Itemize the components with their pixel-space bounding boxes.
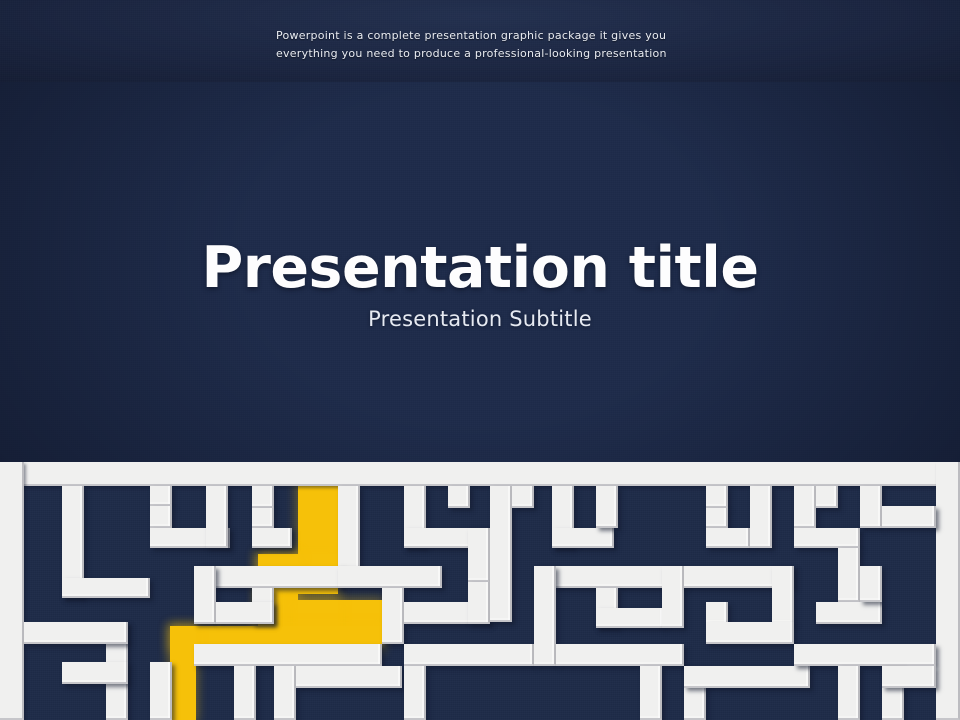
maze-wall-segment [0, 462, 24, 720]
maze-illustration [0, 462, 960, 720]
maze-wall-segment [838, 548, 860, 602]
maze-wall-segment [706, 486, 728, 508]
maze-wall-segment [194, 566, 344, 588]
maze-wall-segment [706, 528, 750, 548]
maze-wall-segment [750, 486, 772, 548]
maze-wall-segment [150, 486, 172, 506]
maze-wall-segment [382, 588, 404, 644]
maze-wall-segment [338, 486, 360, 572]
page-subtitle[interactable]: Presentation Subtitle [0, 307, 960, 331]
maze-wall-segment [816, 486, 838, 508]
maze-wall-segment [448, 486, 470, 508]
maze-wall-segment [662, 566, 684, 628]
header-tagline: Powerpoint is a complete presentation gr… [276, 27, 696, 62]
maze-wall-segment [194, 644, 382, 666]
maze-wall-segment [216, 602, 274, 624]
maze-wall-segment [794, 486, 816, 528]
header-tagline-line-2: everything you need to produce a profess… [276, 45, 696, 63]
maze-wall-segment [860, 566, 882, 602]
maze-wall-segment [252, 486, 274, 508]
maze-wall-segment [296, 666, 402, 688]
maze-wall-segment [556, 644, 684, 666]
maze-wall-segment [234, 666, 256, 720]
maze-wall-segment [194, 566, 216, 624]
maze-wall-segment [534, 566, 556, 666]
maze-wall-segment [706, 508, 728, 528]
maze-wall-segment [512, 486, 534, 508]
header-tagline-line-1: Powerpoint is a complete presentation gr… [276, 27, 696, 45]
maze-wall-segment [468, 528, 490, 582]
maze-wall-segment [596, 486, 618, 528]
maze-wall-segment [706, 622, 794, 644]
maze-wall-segment [24, 622, 128, 644]
maze-wall-segment [794, 528, 860, 548]
maze-wall-segment [552, 528, 614, 548]
maze-wall-segment [838, 666, 860, 720]
maze-wall-segment [150, 662, 172, 720]
maze-wall-segment [684, 666, 810, 688]
maze-wall-segment [468, 582, 490, 624]
maze-wall-segment [882, 666, 936, 688]
maze-wall-segment [62, 578, 150, 598]
maze-path-segment [170, 626, 196, 720]
maze-wall-segment [150, 506, 172, 528]
maze-wall-segment [0, 462, 960, 486]
maze-wall-segment [404, 666, 426, 720]
title-block: Presentation title Presentation Subtitle [0, 235, 960, 331]
maze-wall-segment [816, 602, 882, 624]
maze-wall-segment [882, 506, 936, 528]
maze-wall-segment [490, 486, 512, 622]
maze-wall-segment [706, 602, 728, 624]
maze-wall-segment [338, 566, 442, 588]
header-band: Powerpoint is a complete presentation gr… [0, 0, 960, 82]
maze-wall-segment [274, 666, 296, 720]
presentation-slide: Powerpoint is a complete presentation gr… [0, 0, 960, 720]
maze-wall-segment [794, 644, 936, 666]
maze-wall-segment [772, 566, 794, 624]
maze-wall-segment [62, 662, 128, 684]
maze-wall-segment [404, 644, 534, 666]
maze-wall-segment [640, 666, 662, 720]
maze-wall-segment [936, 462, 960, 720]
maze-wall-segment [252, 528, 292, 548]
maze-wall-segment [860, 486, 882, 528]
maze-wall-segment [206, 486, 228, 548]
maze-wall-segment [252, 508, 274, 528]
page-title[interactable]: Presentation title [0, 235, 960, 301]
maze-wall-segment [596, 608, 664, 628]
